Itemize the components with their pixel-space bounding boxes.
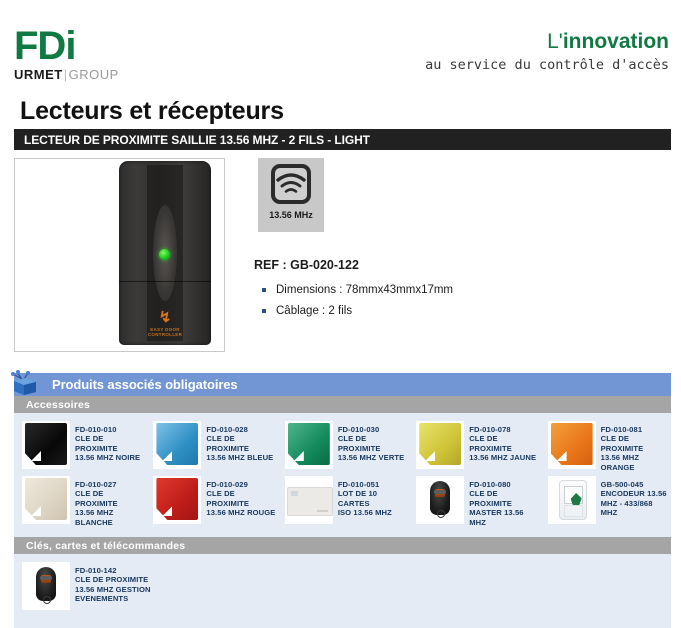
product-desc-2: MASTER 13.56 MHZ [469, 508, 539, 527]
encoder-device-icon [559, 480, 587, 520]
product-code: FD-010-081 [601, 425, 671, 434]
product-desc-2: 13.56 MHZ [75, 508, 145, 517]
list-item[interactable]: FD-010-010 CLE DE PROXIMITE 13.56 MHZ NO… [14, 419, 145, 474]
page-title: Lecteurs et récepteurs [20, 97, 284, 126]
list-item[interactable]: FD-010-078 CLE DE PROXIMITE 13.56 MHZ JA… [408, 419, 539, 474]
product-thumbnail [548, 421, 596, 469]
key-fob-icon [36, 567, 56, 601]
key-tag-icon [288, 423, 330, 465]
product-desc-2: 13.56 MHZ BLEUE [206, 453, 276, 462]
list-item[interactable]: FD-010-051 LOT DE 10 CARTES ISO 13.56 MH… [277, 474, 408, 529]
product-desc-2: ISO 13.56 MHZ [338, 508, 408, 517]
product-code: FD-010-028 [206, 425, 276, 434]
key-tag-icon [25, 423, 67, 465]
associated-products-section: Produits associés obligatoires Accessoir… [14, 373, 671, 628]
rfid-wave-icon [271, 164, 311, 204]
tagline-line-2: au service du contrôle d'accès [425, 56, 669, 74]
product-thumbnail [548, 476, 596, 524]
list-item[interactable]: FD-010-029 CLE DE PROXIMITE 13.56 MHZ RO… [145, 474, 276, 529]
fdi-logo[interactable]: FDi URMET|GROUP [14, 26, 119, 82]
product-photo-frame[interactable]: ↯ EASY DOOR CONTROLLER [14, 158, 225, 352]
product-code: FD-010-010 [75, 425, 145, 434]
frequency-badge-label: 13.56 MHz [258, 210, 324, 220]
product-desc-1: CLE DE PROXIMITE [206, 489, 276, 508]
product-caption: GB-500-045 ENCODEUR 13.56 MHZ - 433/868 … [601, 476, 671, 518]
product-title-text: LECTEUR DE PROXIMITE SAILLIE 13.56 MHZ -… [24, 133, 370, 147]
product-code: GB-500-045 [601, 480, 671, 489]
product-thumbnail [285, 421, 333, 469]
list-item[interactable]: FD-010-142 CLE DE PROXIMITE 13.56 MHZ GE… [14, 560, 178, 612]
key-tag-icon [551, 423, 593, 465]
product-desc-2: 13.56 MHZ GESTION [75, 585, 151, 594]
reader-brand-line2: CONTROLLER [148, 332, 182, 337]
accessories-grid: FD-010-010 CLE DE PROXIMITE 13.56 MHZ NO… [14, 413, 671, 537]
product-desc-1: CLE DE PROXIMITE [75, 489, 145, 508]
subsection-header-cles-cartes: Clés, cartes et télécommandes [14, 537, 671, 554]
associated-products-title: Produits associés obligatoires [52, 377, 238, 392]
product-code: FD-010-030 [338, 425, 408, 434]
spec-item: Câblage : 2 fils [258, 305, 453, 317]
tagline-prefix: L' [547, 30, 563, 53]
grid-spacer [14, 612, 671, 620]
product-caption: FD-010-080 CLE DE PROXIMITE MASTER 13.56… [469, 476, 539, 527]
package-box-icon [8, 370, 52, 398]
subsection-header-accessoires: Accessoires [14, 396, 671, 413]
product-code: FD-010-142 [75, 566, 151, 575]
key-tag-icon [156, 423, 198, 465]
iso-card-icon [287, 487, 333, 516]
product-desc-3: EVENEMENTS [75, 594, 151, 603]
product-desc-2: 13.56 MHZ ORANGE [601, 453, 671, 472]
product-caption: FD-010-029 CLE DE PROXIMITE 13.56 MHZ RO… [206, 476, 276, 518]
list-item[interactable]: GB-500-045 ENCODEUR 13.56 MHZ - 433/868 … [540, 474, 671, 529]
tagline-line-1: L'innovation [425, 30, 669, 54]
product-thumbnail [153, 476, 201, 524]
subsection-heading-text: Clés, cartes et télécommandes [26, 540, 185, 552]
accessory-row: FD-010-142 CLE DE PROXIMITE 13.56 MHZ GE… [14, 560, 671, 612]
reader-led-indicator [159, 249, 170, 260]
list-item[interactable]: FD-010-027 CLE DE PROXIMITE 13.56 MHZ BL… [14, 474, 145, 529]
accessory-row: FD-010-027 CLE DE PROXIMITE 13.56 MHZ BL… [14, 474, 671, 529]
product-caption: FD-010-078 CLE DE PROXIMITE 13.56 MHZ JA… [469, 421, 539, 463]
product-caption: FD-010-142 CLE DE PROXIMITE 13.56 MHZ GE… [75, 562, 151, 604]
product-desc-2: 13.56 MHZ ROUGE [206, 508, 276, 517]
product-thumbnail [22, 476, 70, 524]
product-detail-section: ↯ EASY DOOR CONTROLLER 13.56 MHz REF : G… [0, 158, 681, 358]
product-thumbnail [416, 421, 464, 469]
product-thumbnail [416, 476, 464, 524]
logo-urmet-text: URMET [14, 67, 63, 82]
spec-item: Dimensions : 78mmx43mmx17mm [258, 284, 453, 296]
product-desc-1: CLE DE PROXIMITE [75, 575, 151, 584]
accessory-row: FD-010-010 CLE DE PROXIMITE 13.56 MHZ NO… [14, 419, 671, 474]
product-code: FD-010-027 [75, 480, 145, 489]
product-code: FD-010-078 [469, 425, 539, 434]
product-title-bar: LECTEUR DE PROXIMITE SAILLIE 13.56 MHZ -… [14, 129, 671, 150]
product-desc-3: BLANCHE [75, 518, 145, 527]
product-code: FD-010-029 [206, 480, 276, 489]
product-desc-2: MHZ - 433/868 MHZ [601, 499, 671, 518]
product-code: FD-010-051 [338, 480, 408, 489]
product-caption: FD-010-010 CLE DE PROXIMITE 13.56 MHZ NO… [75, 421, 145, 463]
product-photo-reader-device: ↯ EASY DOOR CONTROLLER [119, 161, 211, 347]
reader-brand-text: EASY DOOR CONTROLLER [119, 327, 211, 337]
key-tag-icon [156, 478, 198, 520]
list-item[interactable]: FD-010-081 CLE DE PROXIMITE 13.56 MHZ OR… [540, 419, 671, 474]
product-desc-2: 13.56 MHZ JAUNE [469, 453, 539, 462]
key-fob-icon [430, 481, 450, 515]
tagline-bold: innovation [563, 30, 669, 53]
product-desc-1: ENCODEUR 13.56 [601, 489, 671, 498]
product-desc-1: CLE DE PROXIMITE [469, 434, 539, 453]
key-tag-icon [419, 423, 461, 465]
product-caption: FD-010-027 CLE DE PROXIMITE 13.56 MHZ BL… [75, 476, 145, 527]
product-thumbnail [22, 562, 70, 610]
logo-subtitle: URMET|GROUP [14, 68, 119, 82]
product-desc-2: 13.56 MHZ NOIRE [75, 453, 145, 462]
subsection-heading-text: Accessoires [26, 399, 90, 411]
list-item[interactable]: FD-010-030 CLE DE PROXIMITE 13.56 MHZ VE… [277, 419, 408, 474]
product-desc-1: CLE DE PROXIMITE [206, 434, 276, 453]
product-thumbnail [285, 476, 333, 524]
associated-products-banner: Produits associés obligatoires [14, 373, 671, 396]
product-desc-1: CLE DE PROXIMITE [469, 489, 539, 508]
product-spec-list: Dimensions : 78mmx43mmx17mm Câblage : 2 … [258, 284, 453, 326]
logo-wordmark: FDi [14, 26, 119, 66]
product-desc-1: CLE DE PROXIMITE [601, 434, 671, 453]
product-caption: FD-010-051 LOT DE 10 CARTES ISO 13.56 MH… [338, 476, 408, 518]
page-header: FDi URMET|GROUP L'innovation au service … [0, 0, 681, 95]
keys-cards-grid: FD-010-142 CLE DE PROXIMITE 13.56 MHZ GE… [14, 554, 671, 628]
list-item[interactable]: FD-010-080 CLE DE PROXIMITE MASTER 13.56… [408, 474, 539, 529]
product-desc-1: CLE DE PROXIMITE [75, 434, 145, 453]
key-tag-icon [25, 478, 67, 520]
product-caption: FD-010-081 CLE DE PROXIMITE 13.56 MHZ OR… [601, 421, 671, 472]
frequency-badge: 13.56 MHz [258, 158, 324, 232]
product-caption: FD-010-028 CLE DE PROXIMITE 13.56 MHZ BL… [206, 421, 276, 463]
logo-group-text: GROUP [69, 67, 119, 82]
product-thumbnail [153, 421, 201, 469]
product-thumbnail [22, 421, 70, 469]
easy-door-swirl-icon: ↯ [119, 311, 211, 325]
product-caption: FD-010-030 CLE DE PROXIMITE 13.56 MHZ VE… [338, 421, 408, 463]
product-desc-1: LOT DE 10 CARTES [338, 489, 408, 508]
product-reference: REF : GB-020-122 [254, 258, 359, 272]
list-item[interactable]: FD-010-028 CLE DE PROXIMITE 13.56 MHZ BL… [145, 419, 276, 474]
header-tagline: L'innovation au service du contrôle d'ac… [425, 30, 669, 74]
product-code: FD-010-080 [469, 480, 539, 489]
product-desc-1: CLE DE PROXIMITE [338, 434, 408, 453]
product-desc-2: 13.56 MHZ VERTE [338, 453, 408, 462]
